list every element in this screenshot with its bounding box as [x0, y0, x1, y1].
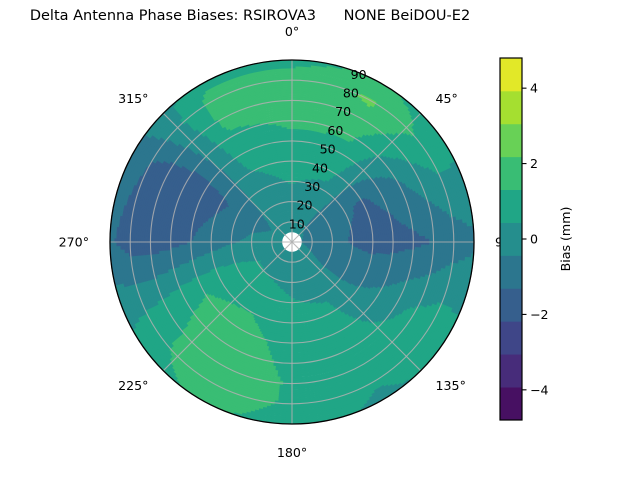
colorbar-tick-label: 0	[530, 232, 538, 247]
colorbar-band-3	[500, 288, 522, 321]
angular-tick-135: 135°	[436, 378, 466, 393]
colorbar-band-0	[500, 387, 522, 420]
colorbar-axis-title: Bias (mm)	[558, 207, 573, 272]
page-title: Delta Antenna Phase Biases: RSIROVA3 NON…	[0, 8, 500, 24]
radial-tick-20: 20	[296, 198, 312, 213]
colorbar-band-10	[500, 58, 522, 91]
angular-tick-270: 270°	[59, 235, 89, 250]
colorbar-tick-label: −4	[530, 382, 549, 397]
colorbar-band-4	[500, 255, 522, 288]
radial-tick-50: 50	[320, 142, 336, 157]
radial-tick-90: 90	[351, 67, 367, 82]
radial-tick-60: 60	[327, 123, 343, 138]
colorbar-band-6	[500, 190, 522, 223]
radial-tick-30: 30	[304, 179, 320, 194]
figure-canvas: Delta Antenna Phase Biases: RSIROVA3 NON…	[0, 0, 640, 480]
polar-grid-layer	[110, 60, 474, 424]
angular-tick-0: 0°	[285, 24, 299, 39]
colorbar-tick-label: 2	[530, 156, 538, 171]
radial-tick-40: 40	[312, 160, 328, 175]
angular-tick-45: 45°	[436, 91, 458, 106]
colorbar-band-9	[500, 91, 522, 124]
colorbar-band-1	[500, 354, 522, 387]
radial-tick-10: 10	[289, 216, 305, 231]
angular-tick-180: 180°	[277, 445, 307, 460]
angular-tick-225: 225°	[118, 378, 148, 393]
colorbar-band-8	[500, 124, 522, 157]
colorbar-band-2	[500, 321, 522, 354]
colorbar[interactable]: 420−2−4Bias (mm)	[500, 58, 573, 420]
colorbar-band-7	[500, 157, 522, 190]
colorbar-tick-label: −2	[530, 307, 549, 322]
radial-tick-70: 70	[335, 104, 351, 119]
angular-tick-315: 315°	[118, 91, 148, 106]
radial-tick-80: 80	[343, 86, 359, 101]
colorbar-band-5	[500, 223, 522, 256]
polar-plot-svg: 0°45°90135°180°225°270°315° 102030405060…	[0, 0, 640, 480]
colorbar-tick-label: 4	[530, 81, 538, 96]
